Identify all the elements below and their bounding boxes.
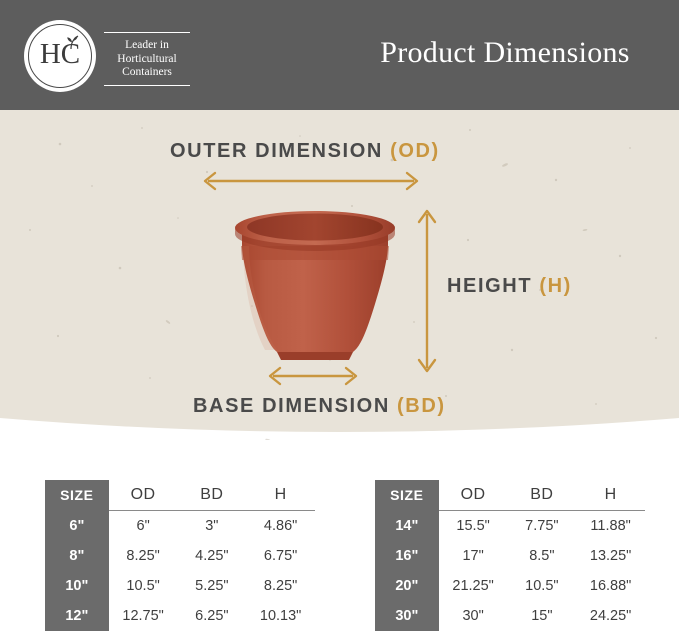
- cell-size: 6": [45, 511, 109, 542]
- table-row: 10" 10.5" 5.25" 8.25": [45, 571, 315, 601]
- table-row: 6" 6" 3" 4.86": [45, 511, 315, 542]
- cell-od: 6": [109, 511, 178, 542]
- table-row: 16" 17" 8.5" 13.25": [375, 541, 645, 571]
- logo-circle-badge: HC: [24, 20, 96, 92]
- cell-size: 30": [375, 601, 439, 631]
- cell-size: 12": [45, 601, 109, 631]
- table-header-row: SIZE OD BD H: [375, 480, 645, 511]
- height-arrow-icon: [415, 206, 439, 376]
- cell-bd: 8.5": [508, 541, 577, 571]
- plant-pot-illustration: [215, 200, 415, 380]
- outer-dimension-text: OUTER DIMENSION: [170, 140, 383, 162]
- cell-bd: 4.25": [178, 541, 247, 571]
- cell-od: 8.25": [109, 541, 178, 571]
- logo-monogram: HC: [24, 37, 96, 71]
- page-title: Product Dimensions: [355, 36, 655, 70]
- column-header-h: H: [576, 480, 645, 511]
- column-header-od: OD: [109, 480, 178, 511]
- cell-od: 12.75": [109, 601, 178, 631]
- cell-bd: 3": [178, 511, 247, 542]
- logo-tagline: Leader in Horticultural Containers: [104, 32, 190, 86]
- cell-bd: 5.25": [178, 571, 247, 601]
- height-abbr: (H): [539, 275, 572, 297]
- cell-h: 24.25": [576, 601, 645, 631]
- column-header-bd: BD: [178, 480, 247, 511]
- cell-size: 16": [375, 541, 439, 571]
- logo-tagline-line-3: Containers: [104, 66, 190, 80]
- base-dimension-abbr: (BD): [397, 395, 446, 417]
- outer-dimension-label: OUTER DIMENSION (OD): [170, 140, 440, 163]
- cell-bd: 15": [508, 601, 577, 631]
- column-header-bd: BD: [508, 480, 577, 511]
- cell-od: 10.5": [109, 571, 178, 601]
- cell-od: 30": [439, 601, 508, 631]
- cell-h: 10.13": [246, 601, 315, 631]
- table-row: 12" 12.75" 6.25" 10.13": [45, 601, 315, 631]
- header-bar: HC Leader in Horticultural Containers Pr…: [0, 0, 679, 110]
- brand-logo: HC Leader in Horticultural Containers: [18, 16, 193, 94]
- column-header-od: OD: [439, 480, 508, 511]
- cell-h: 4.86": [246, 511, 315, 542]
- cell-h: 13.25": [576, 541, 645, 571]
- base-dimension-text: BASE DIMENSION: [193, 395, 390, 417]
- outer-dimension-abbr: (OD): [390, 140, 440, 162]
- cell-size: 14": [375, 511, 439, 542]
- cell-size: 20": [375, 571, 439, 601]
- diagram-panel: OUTER DIMENSION (OD): [0, 110, 679, 440]
- cell-od: 15.5": [439, 511, 508, 542]
- dimensions-table-left: SIZE OD BD H 6" 6" 3" 4.86" 8" 8.25" 4.2…: [45, 480, 315, 631]
- cell-h: 8.25": [246, 571, 315, 601]
- cell-size: 10": [45, 571, 109, 601]
- cell-od: 21.25": [439, 571, 508, 601]
- height-text: HEIGHT: [447, 275, 532, 297]
- cell-bd: 7.75": [508, 511, 577, 542]
- logo-tagline-line-1: Leader in: [104, 39, 190, 53]
- table-row: 8" 8.25" 4.25" 6.75": [45, 541, 315, 571]
- base-dimension-label: BASE DIMENSION (BD): [193, 395, 446, 418]
- logo-tagline-line-2: Horticultural: [104, 53, 190, 67]
- cell-h: 11.88": [576, 511, 645, 542]
- height-label: HEIGHT (H): [447, 275, 572, 298]
- cell-bd: 6.25": [178, 601, 247, 631]
- dimensions-table-right: SIZE OD BD H 14" 15.5" 7.75" 11.88" 16" …: [375, 480, 645, 631]
- column-header-h: H: [246, 480, 315, 511]
- table-row: 14" 15.5" 7.75" 11.88": [375, 511, 645, 542]
- table-row: 30" 30" 15" 24.25": [375, 601, 645, 631]
- cell-size: 8": [45, 541, 109, 571]
- cell-od: 17": [439, 541, 508, 571]
- column-header-size: SIZE: [45, 480, 109, 511]
- cell-h: 16.88": [576, 571, 645, 601]
- base-dimension-arrow-icon: [265, 365, 361, 387]
- table-header-row: SIZE OD BD H: [45, 480, 315, 511]
- column-header-size: SIZE: [375, 480, 439, 511]
- table-row: 20" 21.25" 10.5" 16.88": [375, 571, 645, 601]
- product-dimensions-infographic: HC Leader in Horticultural Containers Pr…: [0, 0, 679, 636]
- cell-h: 6.75": [246, 541, 315, 571]
- outer-dimension-arrow-icon: [200, 170, 422, 192]
- cell-bd: 10.5": [508, 571, 577, 601]
